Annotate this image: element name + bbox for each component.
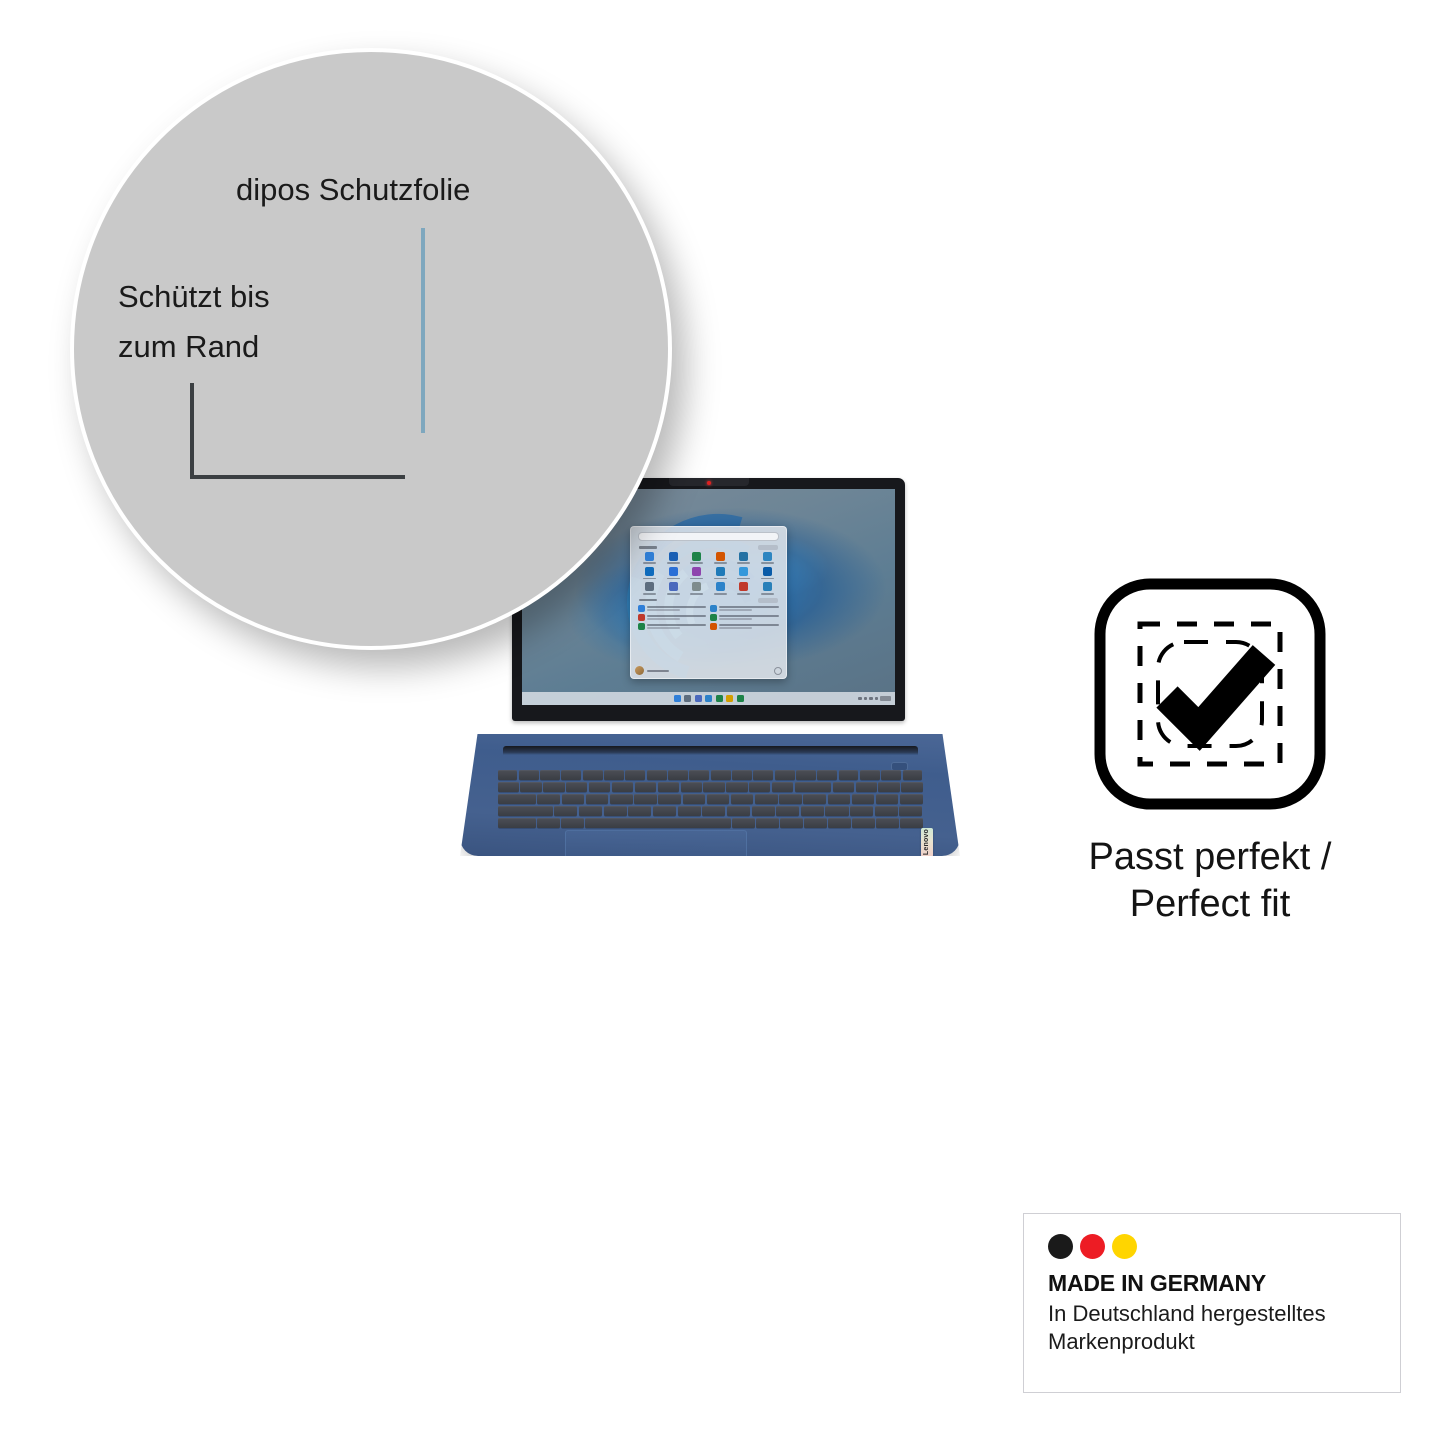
app-label <box>690 593 703 595</box>
keyboard-key[interactable] <box>658 794 681 804</box>
app-icon <box>669 552 678 561</box>
taskbar-icon[interactable] <box>684 695 691 702</box>
recommended-item[interactable] <box>710 623 778 630</box>
start-menu-pinned-grid[interactable] <box>638 552 779 595</box>
app-label <box>761 593 774 595</box>
taskbar-icon[interactable] <box>716 695 723 702</box>
made-in-germany-subtitle-line2: Markenprodukt <box>1048 1328 1376 1356</box>
start-menu-app-tile[interactable] <box>733 567 756 579</box>
app-label <box>737 562 750 564</box>
app-icon <box>669 582 678 591</box>
app-icon <box>692 582 701 591</box>
windows-taskbar[interactable] <box>522 692 895 705</box>
keyboard-key[interactable] <box>681 782 702 792</box>
all-apps-button[interactable] <box>758 545 778 550</box>
app-icon <box>739 552 748 561</box>
app-icon <box>645 567 654 576</box>
keyboard-key[interactable] <box>519 770 539 780</box>
recommended-item-text <box>719 624 778 629</box>
perfect-fit-block: Passt perfekt / Perfect fit <box>1020 578 1400 928</box>
start-menu-app-tile[interactable] <box>638 552 661 564</box>
keyboard-key[interactable] <box>900 818 922 828</box>
keyboard-key[interactable] <box>732 770 752 780</box>
start-menu-app-tile[interactable] <box>709 582 732 594</box>
app-icon <box>716 582 725 591</box>
keyboard-key[interactable] <box>610 794 633 804</box>
callout-accent-line <box>421 228 425 433</box>
app-icon <box>716 552 725 561</box>
app-icon <box>763 582 772 591</box>
keyboard-key[interactable] <box>876 794 899 804</box>
keyboard-key[interactable] <box>825 806 848 816</box>
keyboard-key[interactable] <box>498 770 518 780</box>
webcam-indicator-icon <box>707 481 711 485</box>
app-icon <box>669 567 678 576</box>
clock[interactable] <box>880 696 891 701</box>
magnifier-title: dipos Schutzfolie <box>236 172 470 208</box>
keyboard-key[interactable] <box>498 806 553 816</box>
german-flag-dots <box>1048 1234 1376 1259</box>
keyboard-row <box>498 806 923 816</box>
keyboard-key[interactable] <box>561 818 583 828</box>
app-icon <box>763 567 772 576</box>
app-label <box>714 593 727 595</box>
keyboard-key[interactable] <box>780 818 802 828</box>
laptop-base: Lenovo <box>460 716 960 863</box>
keyboard-key[interactable] <box>566 782 587 792</box>
start-menu-app-tile[interactable] <box>756 582 779 594</box>
keyboard-key[interactable] <box>554 806 577 816</box>
app-label <box>690 562 703 564</box>
keyboard-key[interactable] <box>586 794 609 804</box>
taskbar-icon[interactable] <box>695 695 702 702</box>
app-icon <box>692 552 701 561</box>
keyboard-key[interactable] <box>732 818 754 828</box>
taskbar-icon[interactable] <box>674 695 681 702</box>
file-icon <box>710 614 717 621</box>
system-tray[interactable] <box>858 696 891 701</box>
keyboard-row <box>498 794 923 804</box>
recommended-item[interactable] <box>638 623 706 630</box>
made-in-germany-subtitle: In Deutschland hergestelltes Markenprodu… <box>1048 1300 1376 1356</box>
keyboard-key[interactable] <box>772 782 793 792</box>
recommended-item[interactable] <box>710 614 778 621</box>
keyboard-key[interactable] <box>900 794 923 804</box>
keyboard-key[interactable] <box>540 770 560 780</box>
start-menu-app-tile[interactable] <box>709 567 732 579</box>
callout-corner-horizontal-line <box>190 475 405 479</box>
keyboard-key[interactable] <box>860 770 880 780</box>
callout-corner-vertical-line <box>190 383 194 479</box>
app-label <box>737 593 750 595</box>
keyboard-key[interactable] <box>749 782 770 792</box>
keyboard-key[interactable] <box>634 794 657 804</box>
keyboard-key[interactable] <box>520 782 541 792</box>
perfect-fit-checkmark-icon <box>1094 578 1326 810</box>
keyboard-key[interactable] <box>625 770 645 780</box>
keyboard-key[interactable] <box>755 794 778 804</box>
app-label <box>690 578 703 580</box>
start-menu-app-tile[interactable] <box>685 582 708 594</box>
keyboard-key[interactable] <box>828 794 851 804</box>
keyboard-key[interactable] <box>498 818 536 828</box>
start-menu-search-input[interactable] <box>638 532 779 541</box>
recommended-item[interactable] <box>638 605 706 612</box>
made-in-germany-badge: MADE IN GERMANY In Deutschland hergestel… <box>1023 1213 1401 1393</box>
keyboard-key[interactable] <box>668 770 688 780</box>
keyboard-key[interactable] <box>881 770 901 780</box>
keyboard-key[interactable] <box>498 782 519 792</box>
made-in-germany-subtitle-line1: In Deutschland hergestelltes <box>1048 1300 1376 1328</box>
keyboard-key[interactable] <box>707 794 730 804</box>
user-name <box>647 670 669 672</box>
keyboard-key[interactable] <box>795 782 831 792</box>
keyboard-key[interactable] <box>856 782 877 792</box>
flag-dot-black <box>1048 1234 1073 1259</box>
keyboard[interactable] <box>498 770 923 828</box>
keyboard-key[interactable] <box>562 794 585 804</box>
perfect-fit-caption-line1: Passt perfekt / <box>1020 834 1400 881</box>
keyboard-deck: Lenovo <box>460 734 960 856</box>
magnifier-subtitle-line1: Schützt bis <box>118 272 270 322</box>
recommended-item[interactable] <box>638 614 706 621</box>
keyboard-key[interactable] <box>498 794 536 804</box>
keyboard-key[interactable] <box>796 770 816 780</box>
start-menu-app-tile[interactable] <box>662 552 685 564</box>
keyboard-key[interactable] <box>901 782 922 792</box>
recommended-label <box>639 599 657 602</box>
made-in-germany-title: MADE IN GERMANY <box>1048 1270 1376 1297</box>
keyboard-key[interactable] <box>833 782 854 792</box>
keyboard-key[interactable] <box>653 806 676 816</box>
volume-icon[interactable] <box>869 697 873 701</box>
windows-start-menu[interactable] <box>630 526 787 679</box>
app-label <box>643 578 656 580</box>
keyboard-key[interactable] <box>803 794 826 804</box>
app-icon <box>645 582 654 591</box>
app-icon <box>716 567 725 576</box>
keyboard-key[interactable] <box>702 806 725 816</box>
start-menu-app-tile[interactable] <box>756 567 779 579</box>
keyboard-key[interactable] <box>635 782 656 792</box>
keyboard-key[interactable] <box>776 806 799 816</box>
pinned-label <box>639 546 657 549</box>
keyboard-key[interactable] <box>703 782 724 792</box>
keyboard-key[interactable] <box>875 806 898 816</box>
keyboard-key[interactable] <box>903 770 923 780</box>
app-icon <box>763 552 772 561</box>
start-menu-recommended-list[interactable] <box>638 605 779 630</box>
avatar[interactable] <box>635 666 644 675</box>
magnifier-subtitle: Schützt bis zum Rand <box>118 272 270 372</box>
keyboard-key[interactable] <box>647 770 667 780</box>
app-label <box>667 578 680 580</box>
taskbar-icon[interactable] <box>737 695 744 702</box>
lenovo-brand-sticker: Lenovo <box>921 828 933 857</box>
chevron-up-icon[interactable] <box>858 697 862 701</box>
power-icon[interactable] <box>774 667 782 675</box>
lenovo-brand-label: Lenovo <box>923 829 930 855</box>
start-menu-pinned-header <box>639 545 778 550</box>
app-label <box>643 593 656 595</box>
keyboard-key[interactable] <box>612 782 633 792</box>
keyboard-key[interactable] <box>850 806 873 816</box>
keyboard-key[interactable] <box>753 770 773 780</box>
recommended-item[interactable] <box>710 605 778 612</box>
start-menu-app-tile[interactable] <box>685 552 708 564</box>
file-icon <box>710 623 717 630</box>
app-label <box>737 578 750 580</box>
product-marketing-image: Lenovo dipos Schutzfolie Schützt bis zum… <box>0 0 1445 1445</box>
keyboard-key[interactable] <box>711 770 731 780</box>
keyboard-key[interactable] <box>689 770 709 780</box>
app-label <box>761 562 774 564</box>
keyboard-key[interactable] <box>579 806 602 816</box>
keyboard-key[interactable] <box>604 770 624 780</box>
keyboard-key[interactable] <box>752 806 775 816</box>
keyboard-key[interactable] <box>779 794 802 804</box>
keyboard-key[interactable] <box>678 806 701 816</box>
file-icon <box>638 623 645 630</box>
app-label <box>643 562 656 564</box>
keyboard-row <box>498 782 923 792</box>
touchpad[interactable] <box>565 830 747 872</box>
keyboard-key[interactable] <box>828 818 850 828</box>
recommended-item-text <box>647 624 706 629</box>
keyboard-key[interactable] <box>727 806 750 816</box>
recommended-item-text <box>719 606 778 611</box>
webcam-notch <box>669 478 749 486</box>
keyboard-row <box>498 770 923 780</box>
start-menu-app-tile[interactable] <box>709 552 732 564</box>
perfect-fit-caption-line2: Perfect fit <box>1020 881 1400 928</box>
more-button[interactable] <box>758 598 778 603</box>
start-menu-app-tile[interactable] <box>662 567 685 579</box>
app-label <box>714 562 727 564</box>
perfect-fit-caption: Passt perfekt / Perfect fit <box>1020 834 1400 928</box>
file-icon <box>710 605 717 612</box>
app-icon <box>739 567 748 576</box>
file-icon <box>638 614 645 621</box>
keyboard-key[interactable] <box>628 806 651 816</box>
keyboard-key[interactable] <box>583 770 603 780</box>
app-label <box>714 578 727 580</box>
network-icon[interactable] <box>864 697 868 701</box>
keyboard-key[interactable] <box>852 818 874 828</box>
app-label <box>761 578 774 580</box>
keyboard-key[interactable] <box>817 770 837 780</box>
start-menu-app-tile[interactable] <box>733 582 756 594</box>
file-icon <box>638 605 645 612</box>
app-label <box>667 593 680 595</box>
battery-icon[interactable] <box>875 697 879 701</box>
start-menu-app-tile[interactable] <box>638 582 661 594</box>
keyboard-key[interactable] <box>589 782 610 792</box>
keyboard-key[interactable] <box>726 782 747 792</box>
recommended-item-text <box>719 615 778 620</box>
flag-dot-red <box>1080 1234 1105 1259</box>
taskbar-icon[interactable] <box>705 695 712 702</box>
keyboard-key[interactable] <box>852 794 875 804</box>
start-menu-recommended-header <box>639 598 778 603</box>
start-menu-app-tile[interactable] <box>638 567 661 579</box>
keyboard-key[interactable] <box>839 770 859 780</box>
keyboard-key[interactable] <box>878 782 899 792</box>
keyboard-key[interactable] <box>804 818 826 828</box>
keyboard-key[interactable] <box>756 818 778 828</box>
keyboard-key[interactable] <box>561 770 581 780</box>
keyboard-key[interactable] <box>683 794 706 804</box>
flag-dot-gold <box>1112 1234 1137 1259</box>
start-menu-footer <box>635 666 782 675</box>
app-icon <box>692 567 701 576</box>
keyboard-key[interactable] <box>537 818 559 828</box>
app-label <box>667 562 680 564</box>
keyboard-key[interactable] <box>585 818 731 828</box>
keyboard-key[interactable] <box>543 782 564 792</box>
keyboard-key[interactable] <box>537 794 560 804</box>
keyboard-key[interactable] <box>876 818 898 828</box>
taskbar-icon[interactable] <box>726 695 733 702</box>
app-icon <box>645 552 654 561</box>
keyboard-key[interactable] <box>899 806 922 816</box>
hinge <box>503 746 918 755</box>
keyboard-key[interactable] <box>731 794 754 804</box>
keyboard-key[interactable] <box>775 770 795 780</box>
keyboard-key[interactable] <box>801 806 824 816</box>
keyboard-key[interactable] <box>604 806 627 816</box>
recommended-item-text <box>647 615 706 620</box>
start-menu-app-tile[interactable] <box>756 552 779 564</box>
app-icon <box>739 582 748 591</box>
magnifier-subtitle-line2: zum Rand <box>118 322 270 372</box>
keyboard-row <box>498 818 923 828</box>
start-menu-app-tile[interactable] <box>685 567 708 579</box>
keyboard-key[interactable] <box>658 782 679 792</box>
recommended-item-text <box>647 606 706 611</box>
start-menu-app-tile[interactable] <box>733 552 756 564</box>
start-menu-app-tile[interactable] <box>662 582 685 594</box>
